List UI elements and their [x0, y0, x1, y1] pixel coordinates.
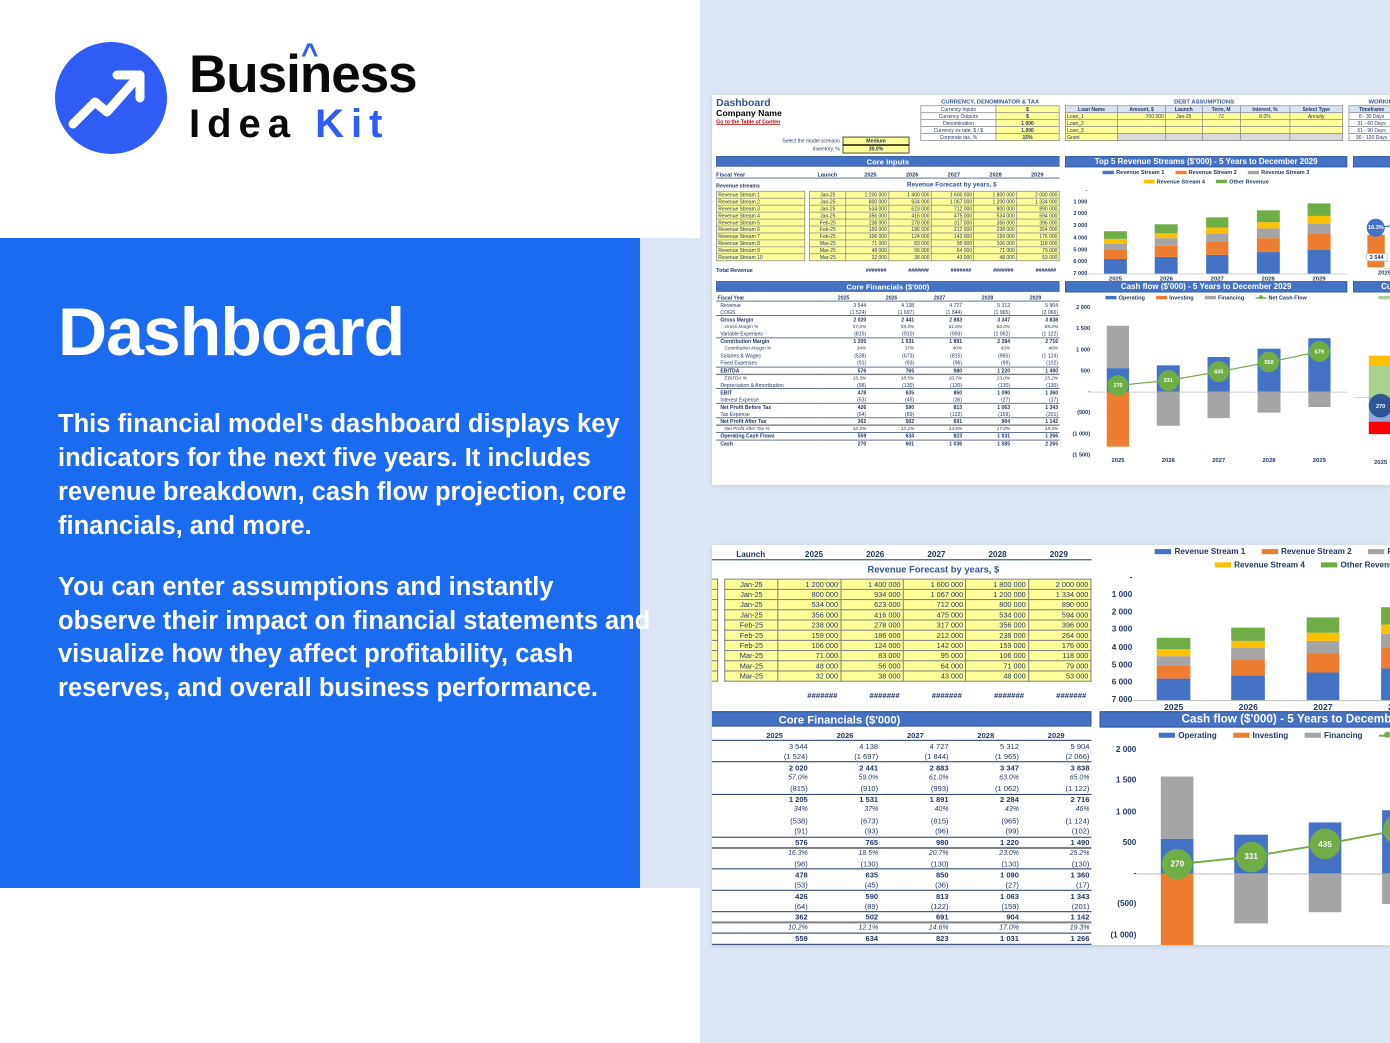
debt-cell[interactable]	[1118, 134, 1166, 141]
currency-row-value[interactable]: 1 000	[996, 120, 1059, 127]
financial-row-value: (99)	[951, 826, 1021, 837]
financial-row-value: 5 904	[1011, 301, 1059, 308]
hero-paragraph-1: This financial model's dashboard display…	[58, 408, 658, 544]
revenue-stream-value[interactable]: 594 000	[1028, 610, 1091, 620]
revenue-stream-value[interactable]: 623 000	[889, 205, 932, 212]
revenue-stream-value[interactable]: 475 000	[903, 610, 966, 620]
financial-row-label: Operating Cash Flows	[716, 432, 819, 439]
revenue-stream-names-table: Revenue Stream 1Revenue Stream 2Revenue …	[712, 579, 718, 682]
revenue-stream-value[interactable]: 1 067 000	[931, 198, 974, 205]
revenue-stream-value[interactable]: 212 000	[903, 630, 966, 640]
revenue-stream-launch[interactable]: Feb-25	[810, 219, 846, 226]
revenue-stream-value[interactable]: 48 000	[974, 254, 1017, 261]
revenue-stream-value[interactable]: 71 000	[974, 247, 1017, 254]
revenue-stream-value[interactable]: 159 000	[966, 640, 1029, 650]
chart-plot: -1 0002 0003 0004 0005 0006 0007 0002025…	[1100, 572, 1390, 717]
table-row: Net Profit Before Tax4265908131 0631 343	[712, 890, 1091, 901]
financial-row-value: (17)	[1011, 396, 1059, 403]
revenue-stream-value[interactable]: 71 000	[966, 661, 1029, 671]
legend-label: Revenue Stream 4	[1157, 178, 1205, 184]
revenue-stream-value[interactable]: 106 000	[778, 640, 841, 650]
currency-row-label: Currency ex rate, $ / $	[921, 127, 996, 134]
table-row: Mar-2548 00056 00064 00071 00079 000	[725, 661, 1091, 671]
revenue-stream-value[interactable]: 356 000	[974, 219, 1017, 226]
revenue-stream-value[interactable]: 238 000	[974, 226, 1017, 233]
legend-swatch	[1233, 733, 1249, 738]
revenue-stream-value[interactable]: 71 000	[778, 651, 841, 661]
revenue-stream-name[interactable]: Revenue Stream 2	[717, 198, 805, 205]
revenue-stream-name[interactable]: Revenue Stream 5	[712, 620, 718, 630]
revenue-stream-value[interactable]: 416 000	[889, 212, 932, 219]
table-row: Net Profit After Tax3625026919041 142	[712, 912, 1091, 923]
total-revenue-row: Total Revenue###########################…	[716, 267, 1059, 275]
revenue-stream-value[interactable]: 38 000	[841, 671, 904, 681]
revenue-stream-value[interactable]: 106 000	[966, 651, 1029, 661]
debt-cell[interactable]: 700 000	[1118, 113, 1166, 120]
revenue-stream-launch[interactable]: Feb-25	[725, 640, 778, 650]
legend-swatch	[1143, 180, 1154, 183]
debt-column-header: Amount, $	[1118, 106, 1166, 113]
year-header: 2029	[1016, 171, 1058, 177]
debt-cell[interactable]: Jan-25	[1166, 113, 1202, 120]
debt-cell[interactable]	[1118, 127, 1166, 134]
financial-row-value: 57.0%	[739, 772, 809, 783]
currency-row-value[interactable]: 15%	[996, 134, 1059, 141]
table-row: Jan-25534 000623 000712 000800 000890 00…	[810, 205, 1060, 212]
revenue-stream-value[interactable]: 1 800 000	[974, 191, 1017, 198]
debt-cell[interactable]	[1166, 127, 1202, 134]
revenue-stream-value[interactable]: 95 000	[903, 651, 966, 661]
debt-cell[interactable]: 72	[1202, 113, 1240, 120]
revenue-stream-value[interactable]: 416 000	[841, 610, 904, 620]
revenue-stream-name[interactable]: Revenue Stream 9	[712, 661, 718, 671]
revenue-stream-launch[interactable]: Feb-25	[810, 226, 846, 233]
revenue-stream-name[interactable]: Revenue Stream 2	[712, 589, 718, 599]
debt-cell[interactable]: Loan_3	[1065, 127, 1117, 134]
sheet-header: DashboardCompany NameGo to the Table of …	[716, 98, 925, 133]
revenue-stream-value[interactable]: 317 000	[903, 620, 966, 630]
debt-cell[interactable]	[1240, 127, 1289, 134]
table-row: Revenue Stream 10	[712, 671, 718, 681]
revenue-stream-launch[interactable]: Mar-25	[725, 671, 778, 681]
financial-row-value: 502	[868, 418, 916, 425]
chart-undefined[interactable]: Top 5 Revenue Streams ($'000) - 5 Years …	[1100, 545, 1390, 707]
debt-cell[interactable]	[1166, 134, 1202, 141]
financial-row-value: (2 066)	[1011, 308, 1059, 315]
revenue-stream-value[interactable]: 118 000	[1028, 651, 1091, 661]
table-row: Tax Expense(64)(89)(122)(159)(201)	[712, 901, 1091, 912]
debt-cell[interactable]: Grant	[1065, 134, 1117, 141]
financial-row-label: EBITDA	[712, 837, 739, 848]
chart-legend: Revenue Stream 1Revenue Stream 2Revenue …	[1100, 545, 1390, 572]
revenue-stream-value[interactable]: 934 000	[889, 198, 932, 205]
revenue-stream-value[interactable]: 534 000	[778, 600, 841, 610]
financial-row-value: 2 284	[964, 338, 1012, 345]
revenue-stream-launch[interactable]: Feb-25	[810, 233, 846, 240]
revenue-stream-value[interactable]: 64 000	[931, 247, 974, 254]
revenue-stream-value[interactable]: 890 000	[1028, 600, 1091, 610]
revenue-stream-name[interactable]: Revenue Stream 7	[717, 233, 805, 240]
legend-label: Revenue Stream 2	[1281, 547, 1352, 556]
financial-row-value: 34%	[820, 345, 868, 352]
dashboard-screenshot-top[interactable]: DashboardCompany NameGo to the Table of …	[712, 95, 1390, 485]
revenue-stream-value[interactable]: 48 000	[966, 671, 1029, 681]
revenue-stream-name[interactable]: Revenue Stream 4	[712, 610, 718, 620]
revenue-stream-launch[interactable]: Jan-25	[725, 579, 778, 589]
financial-row-value: 16.3%	[739, 847, 809, 858]
revenue-forecast-table: Jan-251 200 0001 400 0001 600 0001 800 0…	[724, 579, 1091, 682]
financial-row-value: (89)	[868, 411, 916, 418]
wc-column-header: Timeframe	[1349, 106, 1390, 113]
revenue-stream-launch[interactable]: Feb-25	[725, 620, 778, 630]
table-row: Jan-25800 000934 0001 067 0001 200 0001 …	[810, 198, 1060, 205]
revenue-stream-name[interactable]: Revenue Stream 9	[717, 247, 805, 254]
financial-row-value: 2 716	[1021, 794, 1091, 805]
total-revenue-value: #######	[777, 691, 839, 703]
legend-swatch	[1321, 562, 1337, 567]
revenue-stream-value[interactable]: 79 000	[1016, 247, 1059, 254]
legend-swatch	[1378, 296, 1389, 299]
legend-swatch	[1155, 549, 1171, 554]
revenue-stream-launch[interactable]: Feb-25	[725, 630, 778, 640]
revenue-stream-name[interactable]: Revenue Stream 7	[712, 640, 718, 650]
revenue-stream-value[interactable]: 1 200 000	[974, 198, 1017, 205]
revenue-stream-launch[interactable]: Mar-25	[810, 247, 846, 254]
table-row: Revenue Stream 5	[712, 620, 718, 630]
financial-row-value: 765	[868, 367, 916, 374]
revenue-stream-value[interactable]: 159 000	[974, 233, 1017, 240]
debt-cell[interactable]	[1290, 127, 1343, 134]
revenue-stream-value[interactable]: 32 000	[846, 254, 889, 261]
table-row: Cash2706011 0361 5852 265	[716, 440, 1059, 447]
bar-segment	[1104, 259, 1127, 273]
revenue-stream-value[interactable]: 79 000	[1028, 661, 1091, 671]
financial-row-value: (98)	[820, 381, 868, 388]
revenue-stream-value[interactable]: 1 200 000	[966, 589, 1029, 599]
revenue-stream-value[interactable]: 800 000	[974, 205, 1017, 212]
revenue-stream-value[interactable]: 238 000	[846, 219, 889, 226]
financial-row-value: (130)	[964, 381, 1012, 388]
financial-row-label: Net Profit After Tax %	[716, 425, 819, 432]
revenue-stream-value[interactable]: 56 000	[841, 661, 904, 671]
financial-row-value: 3 838	[1021, 762, 1091, 773]
revenue-stream-value[interactable]: 43 000	[903, 671, 966, 681]
core-inputs-year-header: Fiscal YearLaunch20252026202720282029	[716, 169, 1059, 179]
legend-label: Financing	[1218, 294, 1244, 300]
table-row: 61 - 90 Days0%30%	[1349, 127, 1390, 134]
revenue-stream-value[interactable]: 317 000	[931, 219, 974, 226]
revenue-stream-name[interactable]: Revenue Stream 4	[717, 212, 805, 219]
revenue-stream-name[interactable]: Revenue Stream 10	[717, 254, 805, 261]
revenue-stream-value[interactable]: 38 000	[889, 254, 932, 261]
financial-row-value: 2 020	[739, 762, 809, 773]
revenue-stream-launch[interactable]: Jan-25	[810, 205, 846, 212]
revenue-stream-value[interactable]: 396 000	[1028, 620, 1091, 630]
revenue-stream-value[interactable]: 800 000	[966, 600, 1029, 610]
debt-cell[interactable]	[1118, 120, 1166, 127]
financial-row-value: (1 965)	[951, 751, 1021, 762]
financial-row-label: Revenue	[712, 740, 739, 751]
revenue-stream-value[interactable]: 142 000	[903, 640, 966, 650]
page-title: Dashboard	[58, 298, 658, 366]
debt-column-header: Launch	[1166, 106, 1202, 113]
revenue-stream-value[interactable]: 118 000	[1016, 240, 1059, 247]
scenario-select[interactable]: Medium	[843, 136, 910, 144]
revenue-stream-value[interactable]: 594 000	[1016, 212, 1059, 219]
revenue-stream-value[interactable]: 124 000	[889, 233, 932, 240]
revenue-stream-value[interactable]: 106 000	[846, 233, 889, 240]
revenue-stream-value[interactable]: 83 000	[841, 651, 904, 661]
revenue-stream-value[interactable]: 176 000	[1016, 233, 1059, 240]
revenue-stream-name[interactable]: Revenue Stream 5	[717, 219, 805, 226]
bar-segment	[1155, 238, 1178, 245]
revenue-stream-value[interactable]: 106 000	[974, 240, 1017, 247]
revenue-stream-value[interactable]: 264 000	[1028, 630, 1091, 640]
revenue-stream-value[interactable]: 934 000	[841, 589, 904, 599]
y-axis-tick: 1 000	[1100, 590, 1133, 600]
revenue-stream-value[interactable]: 238 000	[778, 620, 841, 630]
scenario-select-row: Select the model scenarioMedium	[726, 137, 921, 145]
financial-row-value: (27)	[951, 880, 1021, 891]
revenue-stream-value[interactable]: 186 000	[841, 630, 904, 640]
revenue-stream-value[interactable]: 1 400 000	[889, 191, 932, 198]
revenue-stream-value[interactable]: 1 067 000	[903, 589, 966, 599]
table-row: 0 - 30 Days60%10%	[1349, 113, 1390, 120]
table-row: Revenue Stream 6	[712, 630, 718, 640]
revenue-stream-value[interactable]: 264 000	[1016, 226, 1059, 233]
table-of-contents-link[interactable]: Go to the Table of Conten	[716, 118, 925, 124]
chart-undefined[interactable]: Cash flow ($'000) - 5 Years to December …	[1100, 711, 1390, 945]
table-row: Gross Margin %57.0%59.0%61.0%63.0%65.0%	[712, 772, 1091, 783]
financial-row-value: 1 142	[1011, 418, 1059, 425]
table-row: Loan_3	[1065, 127, 1342, 134]
year-header: 2028	[964, 294, 1012, 301]
revenue-stream-value[interactable]: 186 000	[889, 226, 932, 233]
financial-row-value: 1 531	[810, 794, 880, 805]
year-header: 2026	[845, 550, 906, 559]
revenue-stream-value[interactable]: 623 000	[841, 600, 904, 610]
revenue-stream-value[interactable]: 712 000	[903, 600, 966, 610]
financial-row-value: 1 490	[1011, 367, 1059, 374]
revenue-stream-value[interactable]: 1 334 000	[1016, 198, 1059, 205]
revenue-stream-value[interactable]: 71 000	[846, 240, 889, 247]
revenue-stream-launch[interactable]: Jan-25	[810, 191, 846, 198]
financial-row-value: (201)	[1011, 411, 1059, 418]
revenue-stream-value[interactable]: 534 000	[966, 610, 1029, 620]
revenue-stream-value[interactable]: 712 000	[931, 205, 974, 212]
revenue-stream-value[interactable]: 48 000	[778, 661, 841, 671]
revenue-stream-value[interactable]: 48 000	[846, 247, 889, 254]
revenue-stream-value[interactable]: 1 334 000	[1028, 589, 1091, 599]
chart-undefined[interactable]: Top 5 Revenue Streams ($'000) - 5 Years …	[1065, 156, 1347, 278]
legend-label: Investing	[1252, 731, 1288, 740]
financial-row-value: (45)	[810, 880, 880, 891]
bar-segment	[1232, 641, 1266, 648]
revenue-stream-value[interactable]: 356 000	[778, 610, 841, 620]
revenue-stream-value[interactable]: 890 000	[1016, 205, 1059, 212]
table-row: 31 - 60 Days40%20%	[1349, 120, 1390, 127]
financial-row-label: Contribution Margin %	[712, 805, 739, 816]
financial-row-value: (122)	[916, 411, 964, 418]
revenue-stream-value[interactable]: 356 000	[966, 620, 1029, 630]
revenue-stream-launch[interactable]: Mar-25	[725, 651, 778, 661]
debt-cell[interactable]	[1290, 120, 1343, 127]
bar-segment	[1308, 216, 1331, 223]
debt-cell[interactable]	[1166, 120, 1202, 127]
revenue-stream-name[interactable]: Revenue Stream 3	[712, 600, 718, 610]
revenue-stream-value[interactable]: 176 000	[1028, 640, 1091, 650]
financial-row-value: (130)	[880, 858, 950, 869]
legend-item: Operating	[1105, 294, 1144, 300]
revenue-stream-name[interactable]: Revenue Stream 3	[717, 205, 805, 212]
revenue-stream-name[interactable]: Revenue Stream 6	[712, 630, 718, 640]
table-row: Salaries & Wages(538)(673)(815)(965)(1 1…	[716, 352, 1059, 359]
debt-cell[interactable]: Loan_2	[1065, 120, 1117, 127]
financial-row-label: Variable Expenses	[712, 783, 739, 794]
debt-cell[interactable]	[1240, 134, 1289, 141]
revenue-stream-value[interactable]: 238 000	[966, 630, 1029, 640]
revenue-stream-value[interactable]: 800 000	[778, 589, 841, 599]
revenue-stream-value[interactable]: 396 000	[1016, 219, 1059, 226]
revenue-stream-value[interactable]: 800 000	[846, 198, 889, 205]
revenue-stream-names-table: Revenue Stream 1Revenue Stream 2Revenue …	[716, 191, 805, 261]
revenue-stream-name[interactable]: Revenue Stream 1	[712, 579, 718, 589]
financial-row-value: 61.0%	[916, 323, 964, 330]
revenue-stream-value[interactable]: 1 600 000	[931, 191, 974, 198]
financial-row-value: 37%	[810, 805, 880, 816]
total-revenue-value: #######	[1026, 691, 1088, 703]
revenue-stream-value[interactable]: 1 800 000	[966, 579, 1029, 589]
financial-row-value: 559	[739, 933, 809, 944]
table-row: Currency Inputs$	[921, 106, 1059, 113]
revenue-stream-value[interactable]: 1 400 000	[841, 579, 904, 589]
table-row: EBITDA %16.3%18.5%20.7%23.0%25.2%	[716, 374, 1059, 381]
chart-undefined[interactable]: Profitability ($'000) - 5 Years to Decem…	[1353, 156, 1390, 278]
series-line	[1353, 311, 1390, 468]
debt-cell[interactable]: 8.0%	[1240, 113, 1289, 120]
revenue-stream-value[interactable]: 475 000	[931, 212, 974, 219]
revenue-stream-value[interactable]: 83 000	[889, 240, 932, 247]
y-axis-tick: 3 000	[1065, 222, 1087, 229]
debt-cell[interactable]	[1202, 134, 1240, 141]
revenue-stream-value[interactable]: 53 000	[1016, 254, 1059, 261]
debt-cell[interactable]	[1290, 134, 1343, 141]
revenue-stream-value[interactable]: 124 000	[841, 640, 904, 650]
dashboard-screenshot-bottom[interactable]: DashboardCompany NameGo to the Table of …	[712, 545, 1390, 945]
bar-segment	[1306, 641, 1340, 653]
financial-row-value: 559	[820, 432, 868, 439]
revenue-stream-launch[interactable]: Jan-25	[725, 610, 778, 620]
revenue-stream-launch[interactable]: Jan-25	[725, 600, 778, 610]
currency-row-value[interactable]: 1.000	[996, 127, 1059, 134]
revenue-stream-value[interactable]: 278 000	[841, 620, 904, 630]
revenue-stream-value[interactable]: 159 000	[846, 226, 889, 233]
revenue-stream-value[interactable]: 534 000	[974, 212, 1017, 219]
revenue-stream-name[interactable]: Revenue Stream 1	[717, 191, 805, 198]
revenue-stream-value[interactable]: 43 000	[931, 254, 974, 261]
revenue-stream-value[interactable]: 1 200 000	[778, 579, 841, 589]
debt-cell[interactable]: Loan_1	[1065, 113, 1117, 120]
revenue-stream-launch[interactable]: Mar-25	[725, 661, 778, 671]
revenue-stream-name[interactable]: Revenue Stream 8	[712, 651, 718, 661]
wc-cell: 0 - 30 Days	[1349, 113, 1390, 120]
revenue-stream-launch[interactable]: Jan-25	[725, 589, 778, 599]
revenue-stream-value[interactable]: 56 000	[889, 247, 932, 254]
revenue-stream-value[interactable]: 53 000	[1028, 671, 1091, 681]
revenue-stream-value[interactable]: 64 000	[903, 661, 966, 671]
financial-row-value: (965)	[951, 815, 1021, 826]
growth-arrow-icon	[55, 42, 167, 154]
revenue-stream-launch[interactable]: Jan-25	[810, 198, 846, 205]
financial-row-value: 813	[880, 890, 950, 901]
revenue-stream-value[interactable]: 1 200 000	[846, 191, 889, 198]
financial-row-value: 1 220	[964, 367, 1012, 374]
legend-item: Revenue Stream 1	[1155, 547, 1245, 556]
revenue-stream-value[interactable]: 534 000	[846, 205, 889, 212]
total-revenue-value: #######	[845, 267, 887, 275]
financial-row-value: (201)	[1021, 901, 1091, 912]
legend-item: Revenue Stream 2	[1262, 547, 1352, 556]
chart-undefined[interactable]: Cash flow ($'000) - 5 Years to December …	[1065, 281, 1347, 469]
financial-row-value: 2 265	[1011, 440, 1059, 447]
legend-label: Other Revenue	[1341, 560, 1390, 569]
y-axis-tick: -	[1100, 573, 1133, 583]
financial-row-value: (965)	[964, 352, 1012, 359]
chart-title: Cash flow ($'000) - 5 Years to December …	[1100, 711, 1390, 727]
table-row: Net Profit After Tax3625026919041 142	[716, 418, 1059, 425]
revenue-stream-launch[interactable]: Mar-25	[810, 254, 846, 261]
financial-row-value: 1 343	[1011, 403, 1059, 410]
revenue-stream-value[interactable]: 278 000	[889, 219, 932, 226]
debt-cell[interactable]	[1202, 120, 1240, 127]
revenue-stream-value[interactable]: 1 600 000	[903, 579, 966, 589]
revenue-stream-value[interactable]: 2 000 000	[1016, 191, 1059, 198]
currency-row-value[interactable]: $	[996, 113, 1059, 120]
working-capital-section: WORKING CAPITAL ASSUMPTIONSTimeframeAR (…	[1349, 98, 1390, 154]
financial-row-label: COGS	[716, 308, 819, 315]
revenue-stream-value[interactable]: 212 000	[931, 226, 974, 233]
financial-row-value: 10.2%	[820, 425, 868, 432]
revenue-stream-value[interactable]: 356 000	[846, 212, 889, 219]
legend-label: Net Cash Flow	[1269, 294, 1307, 300]
legend-swatch	[1262, 549, 1278, 554]
table-row: Mar-2571 00083 00095 000106 000118 000	[725, 651, 1091, 661]
financial-row-value: 23.0%	[964, 374, 1012, 381]
revenue-stream-launch[interactable]: Mar-25	[810, 240, 846, 247]
debt-cell[interactable]: Annuity	[1290, 113, 1343, 120]
revenue-stream-name[interactable]: Revenue Stream 6	[717, 226, 805, 233]
revenue-stream-value[interactable]: 95 000	[931, 240, 974, 247]
revenue-stream-value[interactable]: 32 000	[778, 671, 841, 681]
financial-row-value: 362	[739, 912, 809, 923]
financial-row-value: 4 138	[868, 301, 916, 308]
revenue-stream-launch[interactable]: Jan-25	[810, 212, 846, 219]
revenue-stream-value[interactable]: 142 000	[931, 233, 974, 240]
revenue-stream-value[interactable]: 2 000 000	[1028, 579, 1091, 589]
table-row: Feb-25106 000124 000142 000159 000176 00…	[810, 233, 1060, 240]
revenue-stream-name[interactable]: Revenue Stream 8	[717, 240, 805, 247]
debt-cell[interactable]	[1240, 120, 1289, 127]
revenue-stream-name[interactable]: Revenue Stream 10	[712, 671, 718, 681]
legend-swatch	[1255, 297, 1266, 298]
inventory-input[interactable]: 30.0%	[843, 145, 910, 153]
table-row: Gross Margin %57.0%59.0%61.0%63.0%65.0%	[716, 323, 1059, 330]
chart-undefined[interactable]: Cumulative CashFlow ($'000) - 5 Years to…	[1353, 281, 1390, 469]
currency-row-value[interactable]: $	[996, 106, 1059, 113]
revenue-stream-value[interactable]: 159 000	[778, 630, 841, 640]
hero-content: Dashboard This financial model's dashboa…	[58, 298, 658, 733]
debt-cell[interactable]	[1202, 127, 1240, 134]
